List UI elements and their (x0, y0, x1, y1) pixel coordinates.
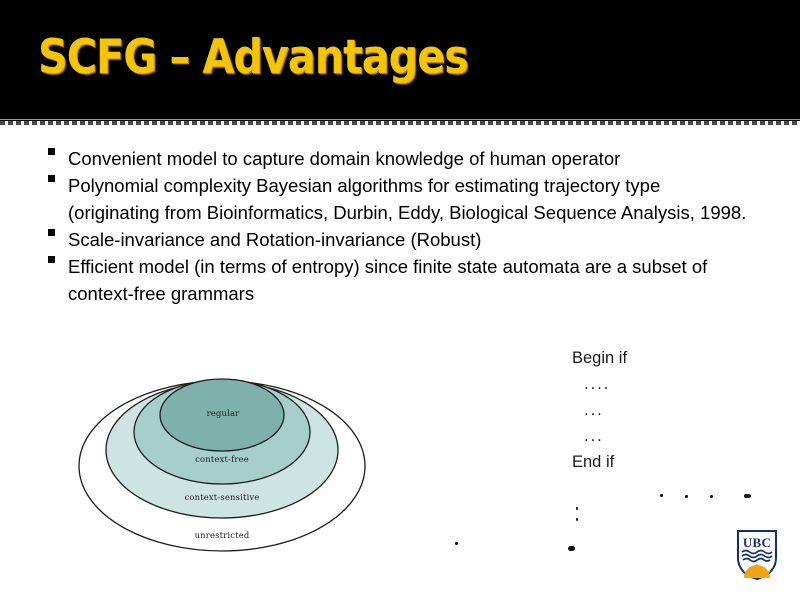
list-item: Scale-invariance and Rotation-invariance… (44, 226, 754, 253)
list-item: Efficient model (in terms of entropy) si… (44, 253, 754, 307)
scan-artifact (685, 495, 688, 498)
ellipse-label-context-sensitive: context-sensitive (184, 492, 259, 502)
ubc-wordmark: UBC (743, 535, 771, 550)
page-title: SCFG – Advantages (38, 30, 468, 85)
list-item-label: Convenient model to capture domain knowl… (68, 145, 754, 172)
code-line: ... (572, 397, 772, 423)
square-bullet-icon (48, 229, 55, 236)
ubc-logo: UBC (735, 528, 779, 581)
title-divider-line (0, 119, 800, 120)
scan-artifact (710, 495, 713, 498)
list-item-label: Polynomial complexity Bayesian algorithm… (68, 172, 754, 226)
ellipse-label-context-free: context-free (195, 454, 249, 464)
code-line: End if (572, 449, 772, 475)
slide-title-band: SCFG – Advantages (0, 0, 800, 121)
square-bullet-icon (48, 148, 55, 155)
scan-artifact (576, 518, 578, 521)
list-item-label: Scale-invariance and Rotation-invariance… (68, 226, 754, 253)
ellipse-label-regular: regular (207, 408, 240, 418)
square-bullet-icon (48, 256, 55, 263)
scan-artifact (576, 507, 578, 510)
scan-artifact (455, 542, 458, 545)
scan-artifact (660, 494, 663, 497)
bullet-list: Convenient model to capture domain knowl… (44, 145, 754, 307)
list-item: Convenient model to capture domain knowl… (44, 145, 754, 172)
list-item-label: Efficient model (in terms of entropy) si… (68, 253, 754, 307)
code-line: .... (572, 371, 772, 397)
presentation-slide: SCFG – Advantages Convenient model to ca… (0, 0, 800, 599)
list-item: Polynomial complexity Bayesian algorithm… (44, 172, 754, 226)
scan-artifact (744, 494, 751, 498)
code-line: ... (572, 423, 772, 449)
square-bullet-icon (48, 175, 55, 182)
chomsky-hierarchy-diagram: regular context-free context-sensitive u… (72, 358, 372, 558)
scan-artifact (568, 546, 575, 551)
ellipse-label-unrestricted: unrestricted (195, 530, 250, 540)
code-line: Begin if (572, 345, 772, 371)
pseudocode-block: Begin if .... ... ... End if (572, 345, 772, 475)
title-divider-dashed (0, 121, 800, 125)
